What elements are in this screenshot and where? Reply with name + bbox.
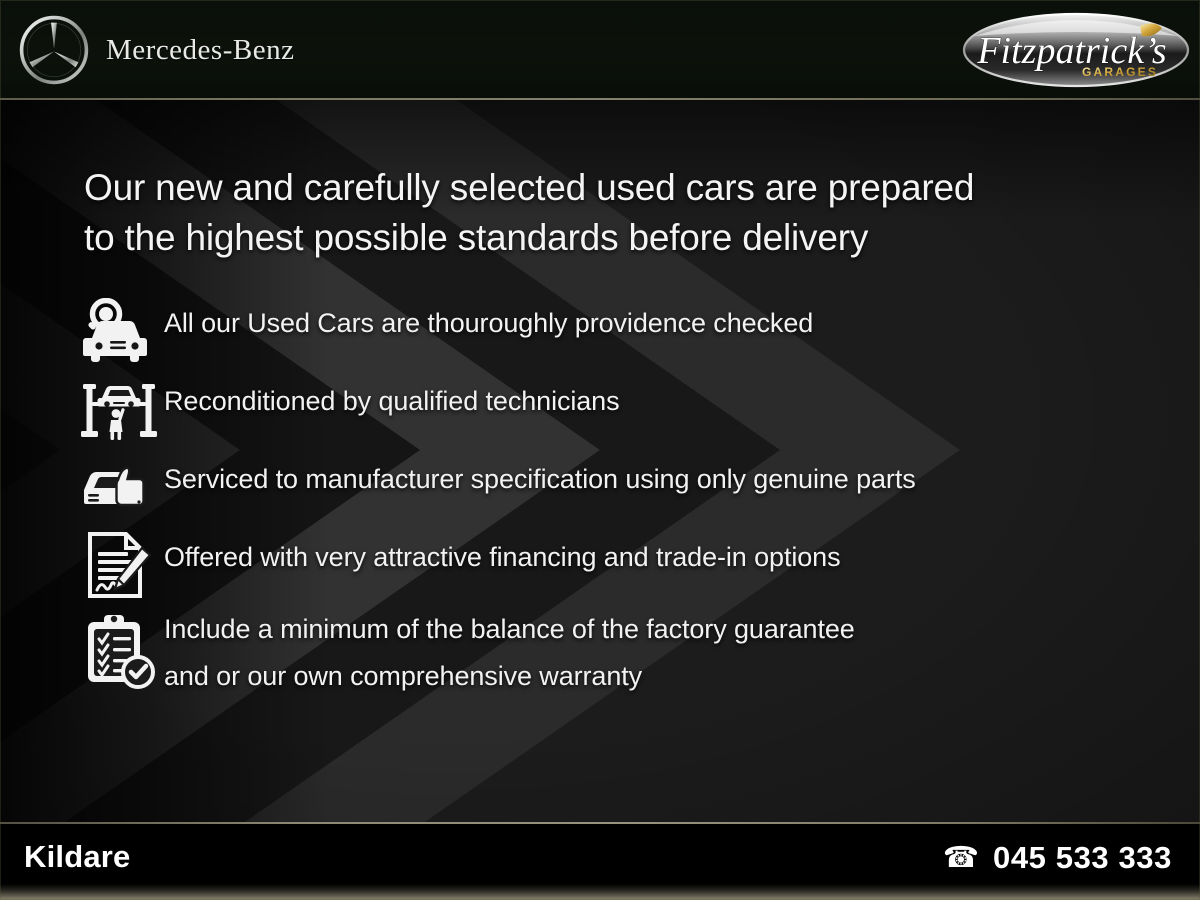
list-item: Offered with very attractive financing a… (80, 526, 1140, 604)
feature-text: Include a minimum of the balance of the … (164, 604, 1140, 700)
mercedes-benz-star-icon (18, 14, 90, 86)
feature-icon-slot (80, 370, 164, 448)
feature-list: All our Used Cars are thouroughly provid… (80, 292, 1140, 706)
brand-name: Mercedes-Benz (106, 34, 294, 67)
headline-line-2: to the highest possible standards before… (84, 213, 1114, 263)
car-magnifying-glass-inspection-icon (80, 298, 158, 364)
car-on-lift-with-mechanic-icon (80, 374, 158, 444)
feature-text: Reconditioned by qualified technicians (164, 370, 1140, 425)
clipboard-checklist-verified-icon (80, 610, 158, 690)
list-item: Serviced to manufacturer specification u… (80, 448, 1140, 526)
header-bar: Mercedes-Benz (0, 0, 1200, 100)
feature-icon-slot (80, 526, 164, 604)
footer-bar: Kildare ☎ 045 533 333 (0, 822, 1200, 900)
list-item: Reconditioned by qualified technicians (80, 370, 1140, 448)
brand-lockup: Mercedes-Benz (18, 14, 294, 86)
feature-icon-slot (80, 448, 164, 526)
feature-icon-slot (80, 604, 164, 706)
headline: Our new and carefully selected used cars… (84, 163, 1114, 263)
telephone-icon: ☎ (943, 844, 979, 873)
footer-contact[interactable]: ☎ 045 533 333 (943, 840, 1172, 876)
feature-text: All our Used Cars are thouroughly provid… (164, 292, 1140, 347)
contract-document-with-pen-icon (80, 530, 158, 600)
feature-text: Offered with very attractive financing a… (164, 526, 1140, 581)
footer-phone-number[interactable]: 045 533 333 (993, 840, 1172, 876)
list-item: Include a minimum of the balance of the … (80, 604, 1140, 706)
dealer-logo[interactable]: Fitzpatrick’s GARAGES (960, 6, 1192, 94)
headline-line-1: Our new and carefully selected used cars… (84, 163, 1114, 213)
feature-text: Serviced to manufacturer specification u… (164, 448, 1140, 503)
footer-location: Kildare (24, 839, 131, 875)
list-item: All our Used Cars are thouroughly provid… (80, 292, 1140, 370)
advert-slide: Mercedes-Benz (0, 0, 1200, 900)
svg-text:GARAGES: GARAGES (1082, 65, 1158, 79)
car-thumbs-up-icon (80, 458, 158, 516)
feature-icon-slot (80, 292, 164, 370)
fitzpatricks-garages-oval-badge-icon: Fitzpatrick’s GARAGES (960, 6, 1192, 94)
